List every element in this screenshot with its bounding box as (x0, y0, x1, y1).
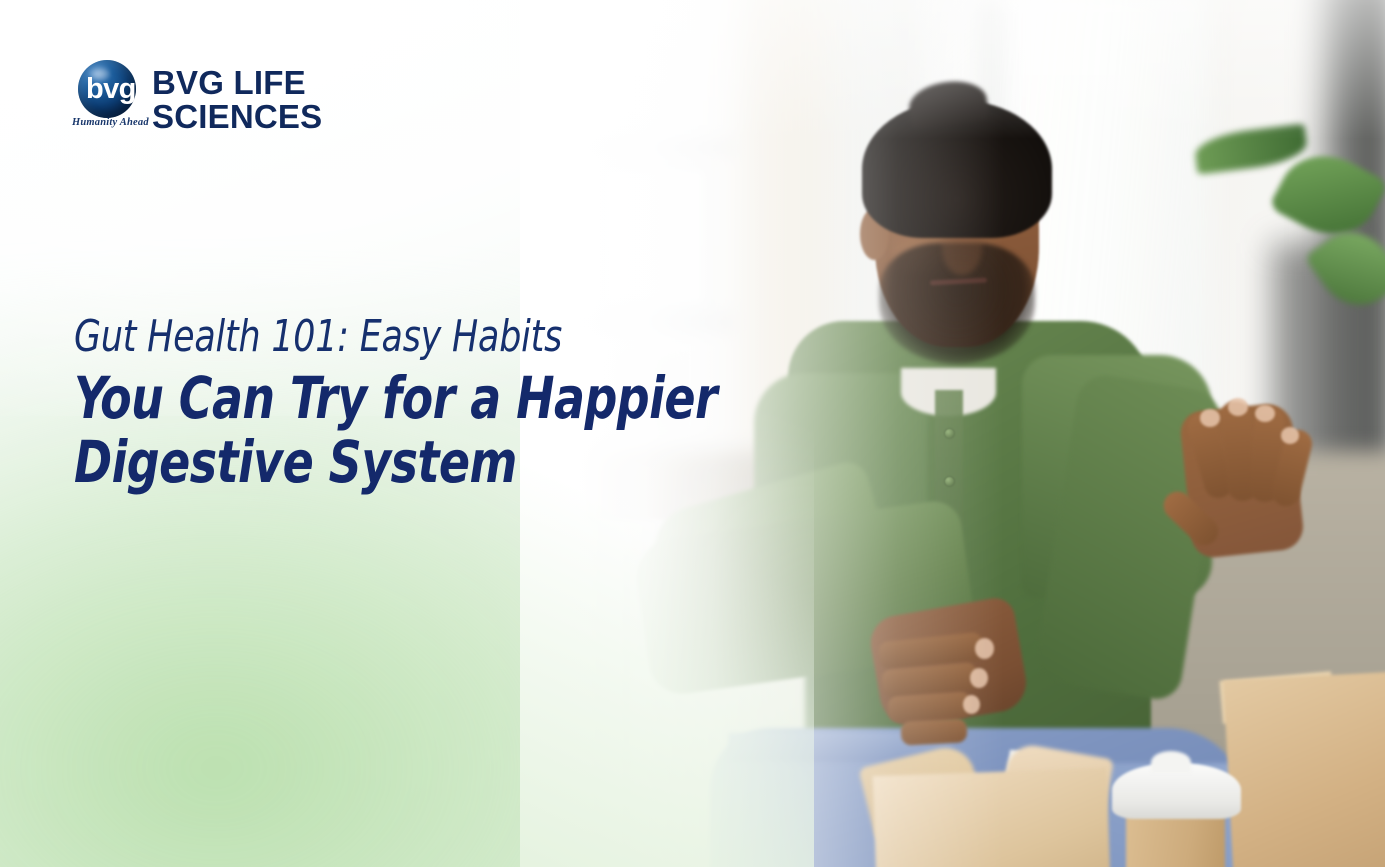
kraft-takeout-box (1224, 672, 1385, 867)
promotional-banner: bvg Humanity Ahead BVG LIFE SCIENCES Gut… (0, 0, 1385, 867)
logo-mark: bvg Humanity Ahead (78, 60, 140, 138)
coffee-cup-lid-tab (1151, 751, 1191, 774)
logo-tagline: Humanity Ahead (72, 117, 164, 128)
headline-line-1: You Can Try for a Happier (74, 367, 690, 431)
headline-line-2: Digestive System (74, 431, 690, 495)
headline-main: You Can Try for a Happier Digestive Syst… (74, 367, 690, 495)
headline-kicker: Gut Health 101: Easy Habits (74, 312, 690, 361)
bvg-life-sciences-logo[interactable]: bvg Humanity Ahead BVG LIFE SCIENCES (78, 60, 322, 138)
logo-wordmark-line2: SCIENCES (152, 100, 322, 134)
logo-mark-text: bvg (86, 75, 144, 104)
logo-wordmark: BVG LIFE SCIENCES (152, 66, 322, 135)
fingernail (1200, 409, 1220, 426)
logo-wordmark-line1: BVG LIFE (152, 64, 306, 101)
headline-block: Gut Health 101: Easy Habits You Can Try … (74, 312, 774, 495)
